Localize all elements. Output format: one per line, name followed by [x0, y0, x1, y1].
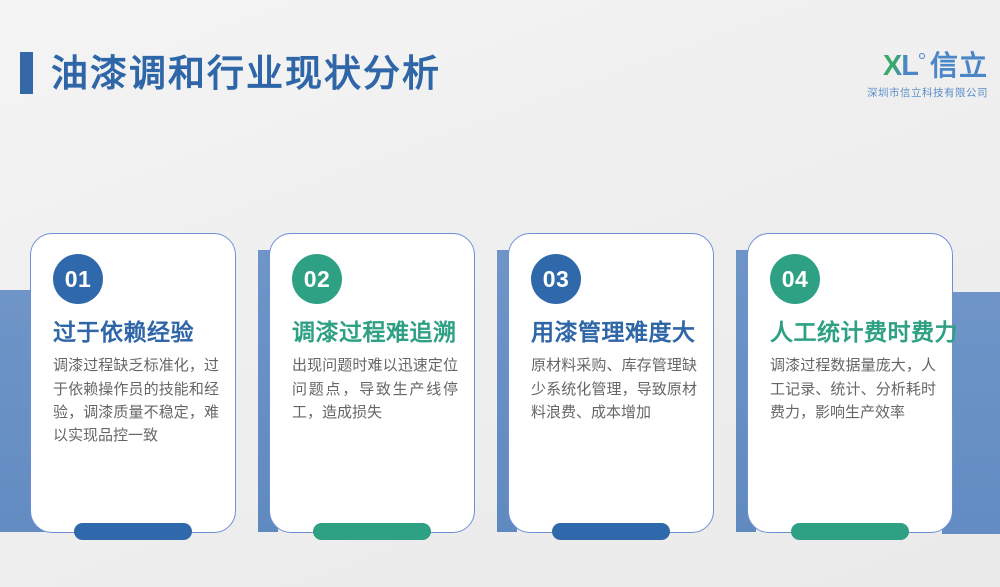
- card-01[interactable]: 01 过于依赖经验 调漆过程缺乏标准化，过于依赖操作员的技能和经验，调漆质量不稳…: [30, 233, 236, 533]
- card-pill-03: [552, 523, 670, 540]
- logo-subtitle: 深圳市信立科技有限公司: [856, 85, 988, 100]
- card-03[interactable]: 03 用漆管理难度大 原材料采购、库存管理缺少系统化管理，导致原材料浪费、成本增…: [508, 233, 714, 533]
- card-title-02: 调漆过程难追溯: [292, 320, 458, 345]
- card-body-02: 出现问题时难以迅速定位问题点，导致生产线停工，造成损失: [292, 354, 458, 424]
- card-pill-04: [791, 523, 909, 540]
- card-badge-02: 02: [292, 254, 342, 304]
- card-title-04: 人工统计费时费力: [770, 320, 936, 345]
- title-accent-bar: [20, 52, 33, 94]
- card-pill-01: [74, 523, 192, 540]
- card-02[interactable]: 02 调漆过程难追溯 出现问题时难以迅速定位问题点，导致生产线停工，造成损失: [269, 233, 475, 533]
- company-logo: XL 信立 深圳市信立科技有限公司: [856, 52, 988, 100]
- card-title-01: 过于依赖经验: [53, 320, 219, 345]
- cards-row: 01 过于依赖经验 调漆过程缺乏标准化，过于依赖操作员的技能和经验，调漆质量不稳…: [0, 233, 1000, 543]
- logo-registered-dot-icon: [919, 53, 925, 59]
- card-badge-01: 01: [53, 254, 103, 304]
- card-04[interactable]: 04 人工统计费时费力 调漆过程数据量庞大，人工记录、统计、分析耗时费力，影响生…: [747, 233, 953, 533]
- page-title-group: 油漆调和行业现状分析: [20, 52, 441, 94]
- card-badge-04: 04: [770, 254, 820, 304]
- logo-name-cn: 信立: [930, 52, 988, 80]
- card-pill-02: [313, 523, 431, 540]
- logo-wordmark: XL 信立: [856, 52, 988, 81]
- card-badge-03: 03: [531, 254, 581, 304]
- card-body-01: 调漆过程缺乏标准化，过于依赖操作员的技能和经验，调漆质量不稳定，难以实现品控一致: [53, 354, 219, 447]
- card-title-03: 用漆管理难度大: [531, 320, 697, 345]
- slide-header: 油漆调和行业现状分析 XL 信立 深圳市信立科技有限公司: [0, 0, 1000, 140]
- logo-mark-text: XL: [883, 52, 918, 81]
- card-body-03: 原材料采购、库存管理缺少系统化管理，导致原材料浪费、成本增加: [531, 354, 697, 424]
- slide-canvas: 油漆调和行业现状分析 XL 信立 深圳市信立科技有限公司 01 过于依赖经验 调…: [0, 0, 1000, 587]
- page-title: 油漆调和行业现状分析: [51, 55, 441, 92]
- card-body-04: 调漆过程数据量庞大，人工记录、统计、分析耗时费力，影响生产效率: [770, 354, 936, 424]
